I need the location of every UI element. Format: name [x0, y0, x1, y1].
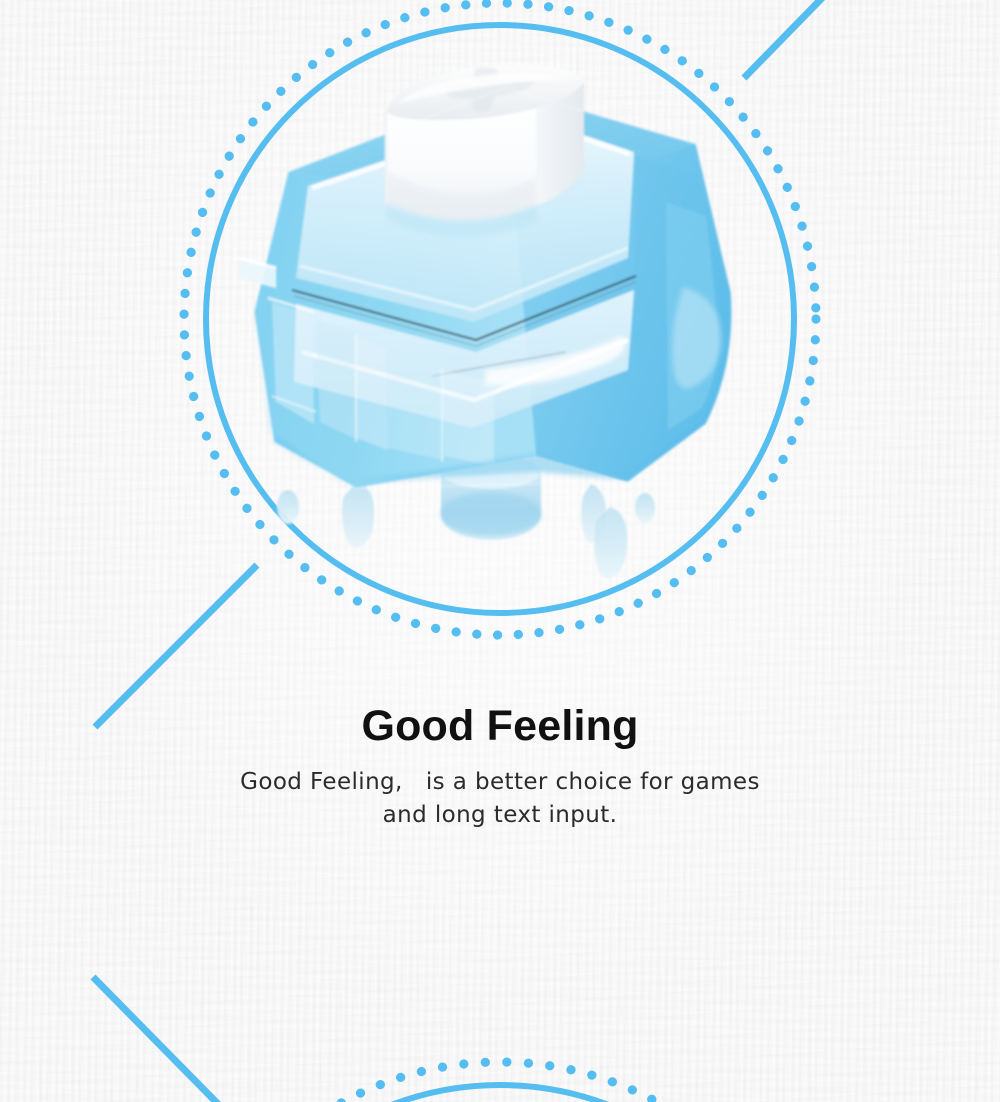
- dotted-circle-bottom: [172, 1062, 828, 1102]
- solid-circle-bottom: [195, 1085, 805, 1102]
- product-photo: [236, 52, 776, 592]
- feature-subtitle-line-1: Good Feeling, is a better choice for gam…: [0, 766, 1000, 799]
- feature-title: Good Feeling: [0, 700, 1000, 752]
- connector-line-bottom-left: [93, 977, 220, 1102]
- page-root: Good Feeling Good Feeling, is a better c…: [0, 0, 1000, 1102]
- switch-illustration: [236, 52, 776, 592]
- feature-subtitle: Good Feeling, is a better choice for gam…: [0, 766, 1000, 832]
- caption-block: Good Feeling Good Feeling, is a better c…: [0, 700, 1000, 832]
- feature-subtitle-line-2: and long text input.: [0, 799, 1000, 832]
